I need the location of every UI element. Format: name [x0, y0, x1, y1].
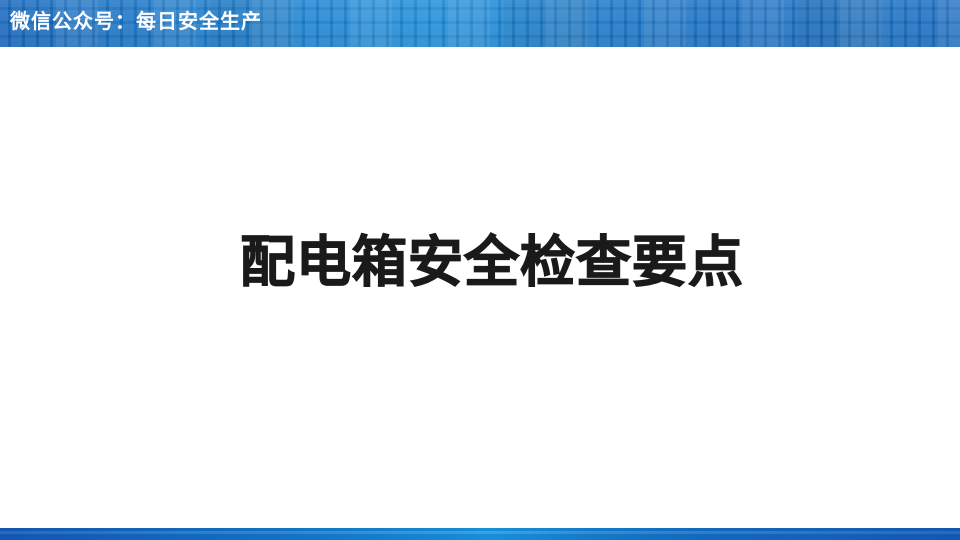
- top-banner: 微信公众号：每日安全生产: [0, 0, 960, 47]
- slide-title-area: 配电箱安全检查要点: [0, 230, 960, 294]
- slide-title: 配电箱安全检查要点: [240, 230, 744, 294]
- bottom-accent-bar: [0, 528, 960, 540]
- banner-account-label: 微信公众号：每日安全生产: [10, 0, 262, 47]
- bottom-bar-highlight: [0, 531, 960, 534]
- presentation-slide: 微信公众号：每日安全生产 配电箱安全检查要点: [0, 0, 960, 540]
